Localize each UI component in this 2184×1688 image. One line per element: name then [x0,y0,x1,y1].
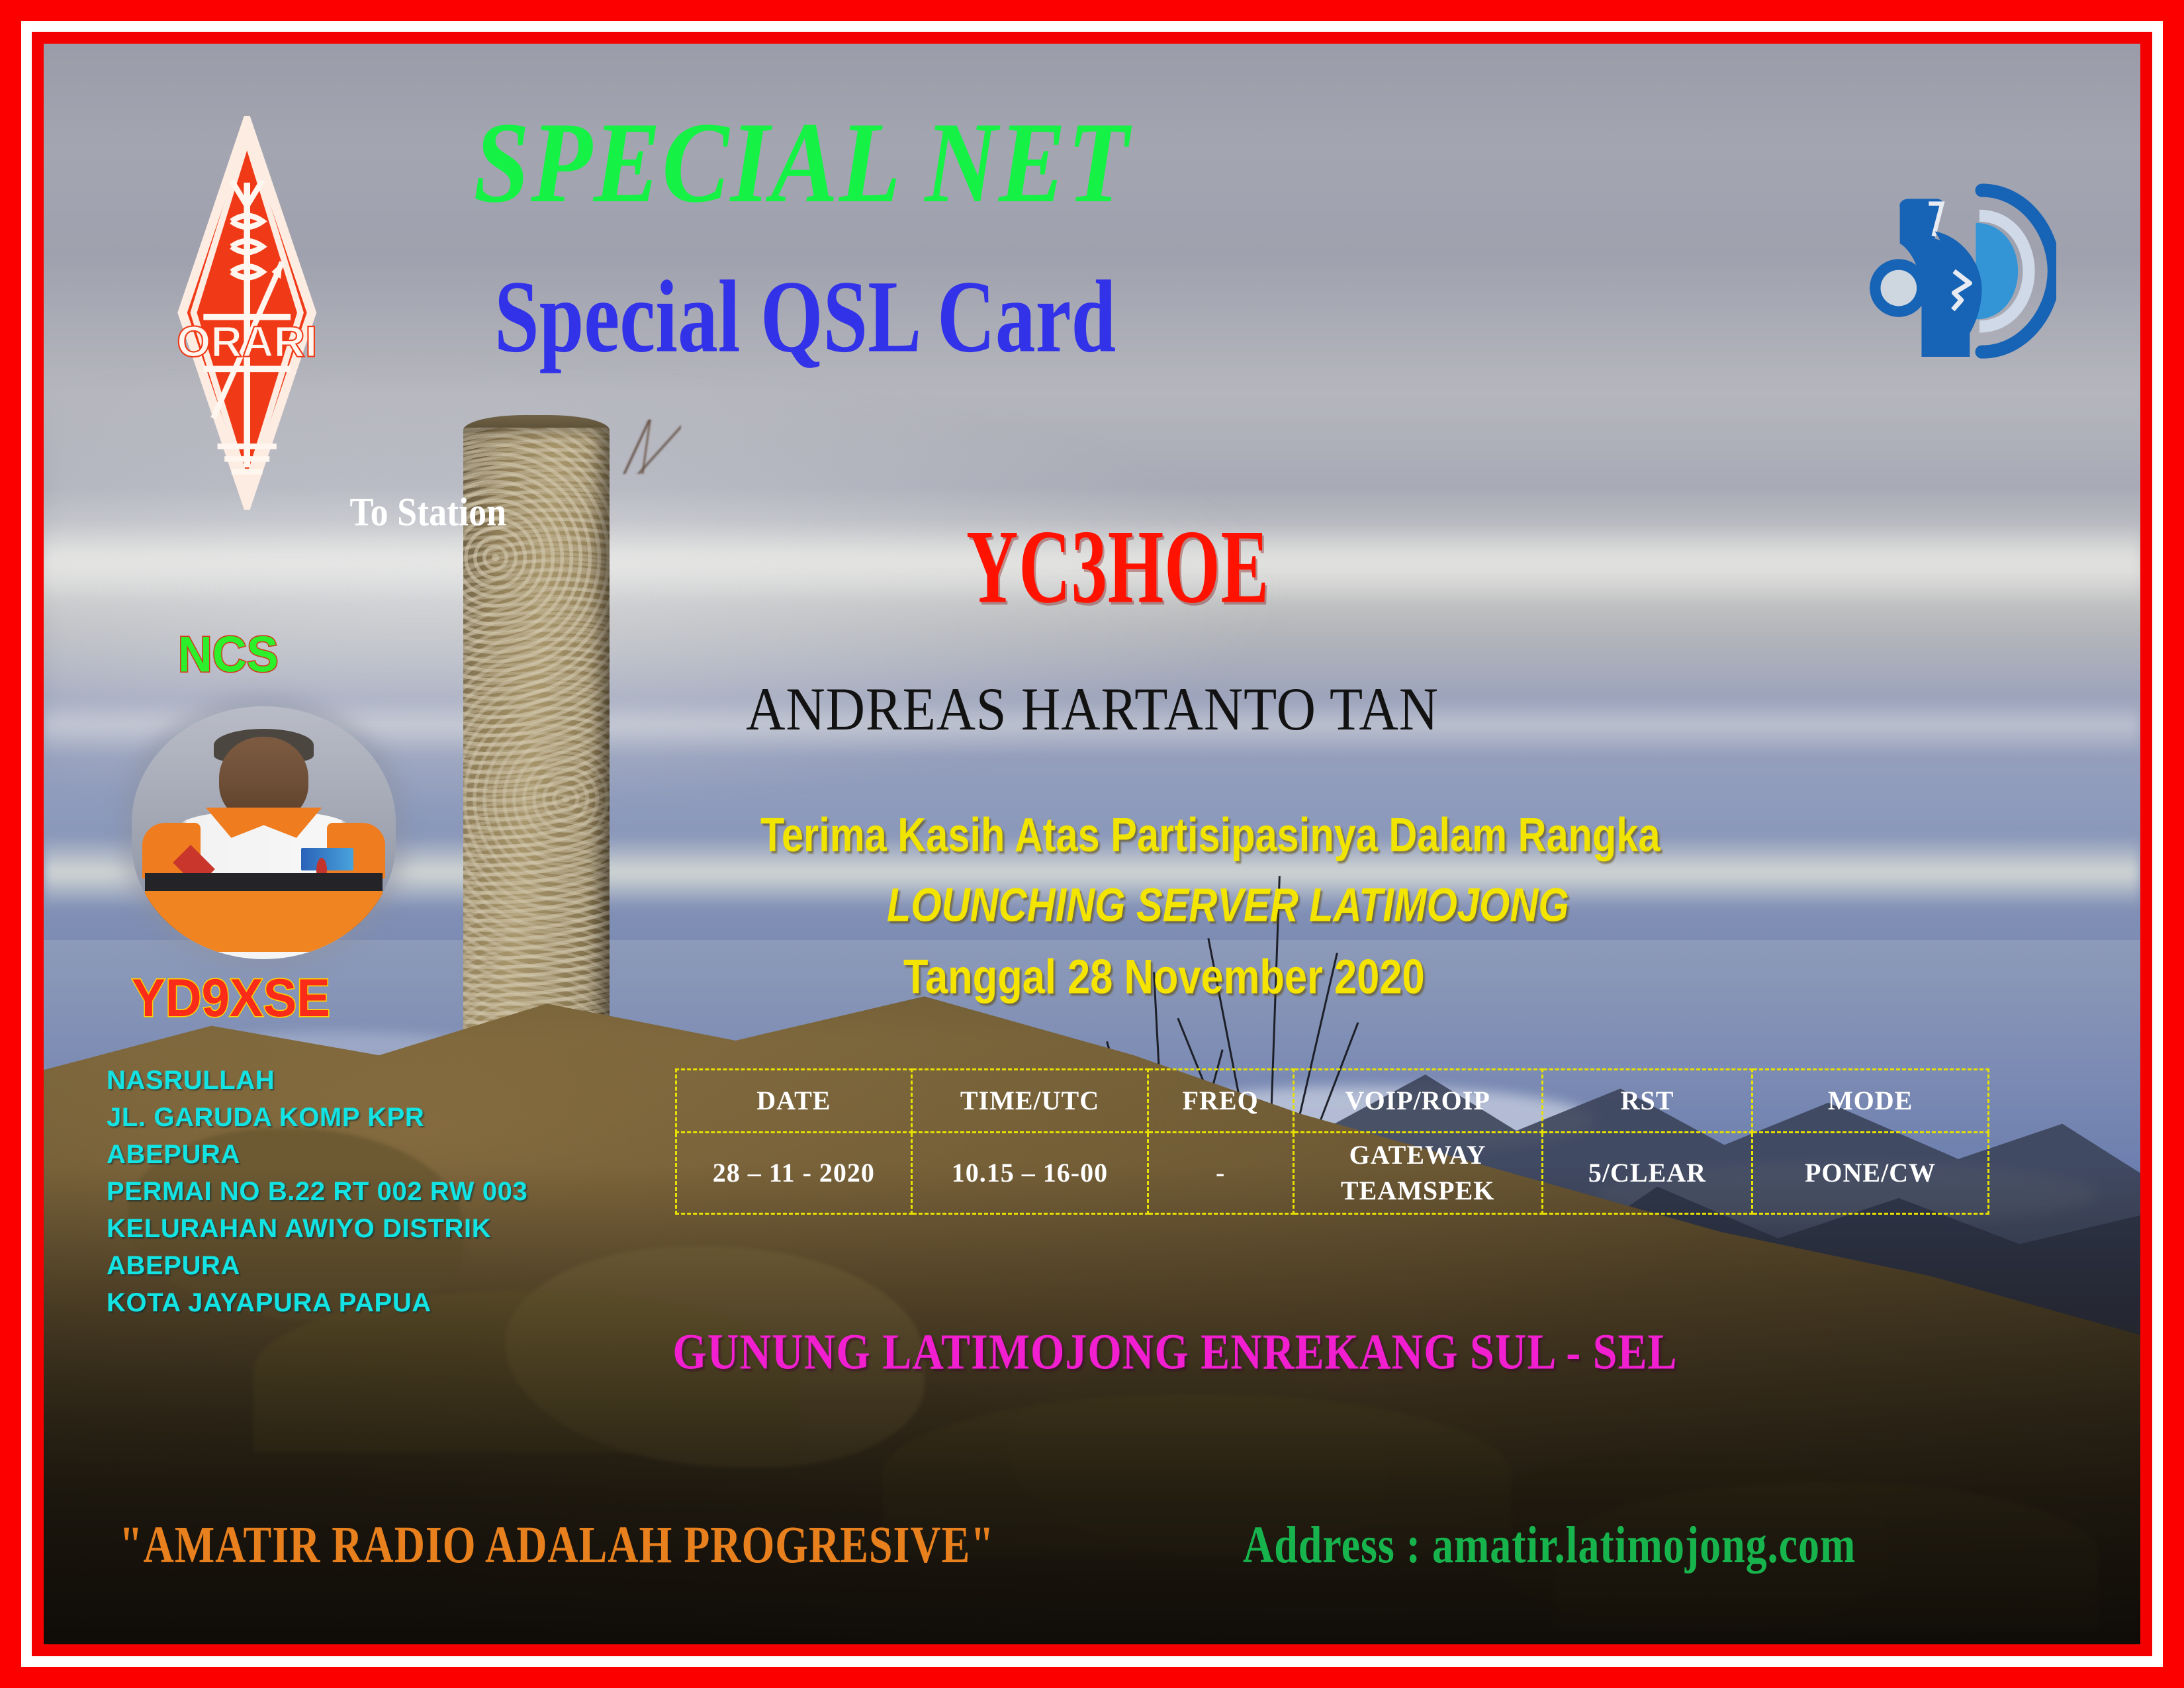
address-line-4: PERMAI NO B.22 RT 002 RW 003 [107,1173,527,1210]
station-callsign: YC3HOE [966,514,1269,620]
motto-text: "AMATIR RADIO ADALAH PROGRESIVE" [119,1519,995,1571]
to-station-label: To Station [350,492,507,532]
address-line-5: KELURAHAN AWIYO DISTRIK [107,1210,527,1247]
qsl-card-outer-frame: ORARI [0,0,2184,1688]
event-line: LOUNCHING SERVER LATIMOJONG [887,882,1569,929]
cell-time: 10.15 – 16-00 [912,1132,1148,1213]
page-title: SPECIAL NET [473,105,1130,220]
table-row: 28 – 11 - 2020 10.15 – 16-00 - GATEWAY T… [676,1132,1988,1213]
cell-voip-roip: GATEWAY TEAMSPEK [1293,1132,1542,1213]
address-line-3: ABEPURA [107,1136,527,1173]
address-line-6: ABEPURA [107,1247,527,1284]
location-line: GUNUNG LATIMOJONG ENREKANG SUL - SEL [672,1327,1677,1378]
address-line-7: KOTA JAYAPURA PAPUA [107,1284,527,1321]
ncs-callsign: YD9XSE [132,972,330,1025]
column-header-voip-roip: VOIP/ROIP [1293,1069,1542,1132]
qsl-card-background-photo: ORARI [44,44,2140,1644]
operator-name: ANDREAS HARTANTO TAN [746,679,1439,740]
qsl-card-inner-red-frame: ORARI [32,32,2152,1656]
ncs-label: NCS [178,630,279,680]
qso-log-table: DATE TIME/UTC FREQ VOIP/ROIP RST MODE 28… [675,1068,1989,1215]
cell-voip-line1: GATEWAY [1295,1137,1541,1173]
content-layer: ORARI [44,44,2140,1644]
qsl-card-white-gap: ORARI [21,21,2163,1667]
orari-logo: ORARI [157,116,337,510]
thanks-line: Terima Kasih Atas Partisipasinya Dalam R… [760,812,1661,860]
column-header-time: TIME/UTC [912,1069,1148,1132]
ncs-operator-photo [132,706,396,959]
portrait-belt [145,873,383,891]
portrait-waist [145,891,383,952]
address-line-2: JL. GARUDA KOMP KPR [107,1099,527,1136]
address-line-1: NASRULLAH [107,1062,527,1099]
cell-mode: PONE/CW [1752,1132,1989,1213]
headset-profile-icon [1864,127,2056,415]
column-header-date: DATE [676,1069,912,1132]
cell-freq: - [1148,1132,1293,1213]
ncs-address-block: NASRULLAH JL. GARUDA KOMP KPR ABEPURA PE… [107,1062,527,1321]
orari-logo-text: ORARI [177,316,317,365]
website-address: Address : amatir.latimojong.com [1243,1519,1856,1571]
column-header-mode: MODE [1752,1069,1989,1132]
cell-date: 28 – 11 - 2020 [676,1132,912,1213]
cell-voip-line2: TEAMSPEK [1295,1173,1541,1209]
column-header-freq: FREQ [1148,1069,1293,1132]
cell-rst: 5/CLEAR [1542,1132,1752,1213]
subtitle: Special QSL Card [494,265,1116,368]
column-header-rst: RST [1542,1069,1752,1132]
event-date-line: Tanggal 28 November 2020 [903,953,1425,1001]
portrait-chest-logo [301,848,354,870]
table-header-row: DATE TIME/UTC FREQ VOIP/ROIP RST MODE [676,1069,1988,1132]
